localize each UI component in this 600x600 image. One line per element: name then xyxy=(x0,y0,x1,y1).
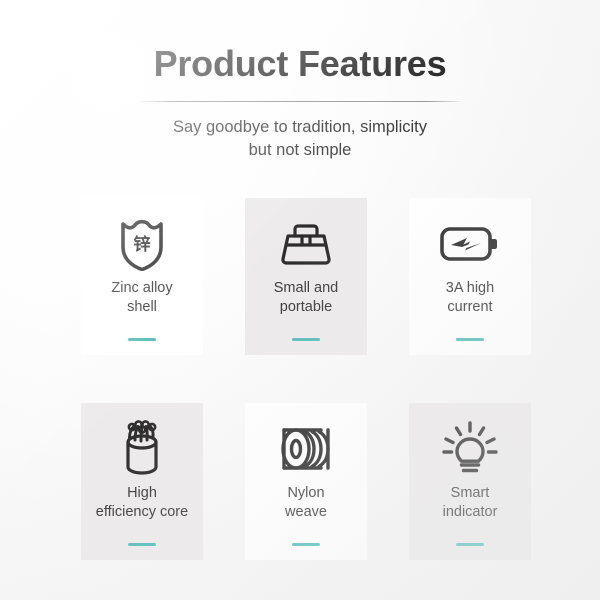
cable-coil-icon xyxy=(276,418,336,480)
feature-label: Smart indicator xyxy=(411,484,529,522)
feature-label: Zinc alloy shell xyxy=(83,279,201,317)
shield-zinc-character: 锌 xyxy=(134,234,151,255)
feature-label: Nylon weave xyxy=(247,484,365,522)
feature-label: High efficiency core xyxy=(83,484,201,522)
wire-core-icon xyxy=(119,418,165,480)
subtitle-line-1: Say goodbye to tradition, simplicity xyxy=(90,116,510,139)
feature-label-line-2: portable xyxy=(247,298,365,317)
battery-bolt-icon xyxy=(439,213,501,275)
feature-grid: 锌 Zinc alloy shell Small and xyxy=(81,198,531,560)
feature-card-high-efficiency-core[interactable]: High efficiency core xyxy=(81,403,203,560)
accent-underline xyxy=(128,338,156,341)
accent-underline xyxy=(292,543,320,546)
title-divider xyxy=(140,101,460,102)
feature-label-line-1: Nylon xyxy=(247,484,365,503)
feature-card-small-and-portable[interactable]: Small and portable xyxy=(245,198,367,355)
header: Product Features Say goodbye to traditio… xyxy=(0,44,600,162)
feature-card-smart-indicator[interactable]: Smart indicator xyxy=(409,403,531,560)
handbag-icon xyxy=(277,213,335,275)
feature-label-line-1: High xyxy=(83,484,201,503)
subtitle-line-2: but not simple xyxy=(90,139,510,162)
feature-card-3a-high-current[interactable]: 3A high current xyxy=(409,198,531,355)
accent-underline xyxy=(292,338,320,341)
shield-zinc-icon: 锌 xyxy=(118,213,166,275)
feature-label-line-2: weave xyxy=(247,503,365,522)
feature-label-line-2: indicator xyxy=(411,503,529,522)
feature-card-nylon-weave[interactable]: Nylon weave xyxy=(245,403,367,560)
accent-underline xyxy=(456,543,484,546)
feature-label-line-1: Small and xyxy=(247,279,365,298)
feature-label: 3A high current xyxy=(411,279,529,317)
feature-label: Small and portable xyxy=(247,279,365,317)
accent-underline xyxy=(128,543,156,546)
feature-label-line-1: Zinc alloy xyxy=(83,279,201,298)
accent-underline xyxy=(456,338,484,341)
subtitle: Say goodbye to tradition, simplicity but… xyxy=(90,116,510,162)
feature-label-line-1: 3A high xyxy=(411,279,529,298)
feature-label-line-2: current xyxy=(411,298,529,317)
feature-label-line-1: Smart xyxy=(411,484,529,503)
product-features-infographic: Product Features Say goodbye to traditio… xyxy=(0,0,600,600)
page-title: Product Features xyxy=(0,44,600,84)
feature-label-line-2: efficiency core xyxy=(83,503,201,522)
feature-card-zinc-alloy-shell[interactable]: 锌 Zinc alloy shell xyxy=(81,198,203,355)
lightbulb-icon xyxy=(442,418,498,480)
feature-label-line-2: shell xyxy=(83,298,201,317)
